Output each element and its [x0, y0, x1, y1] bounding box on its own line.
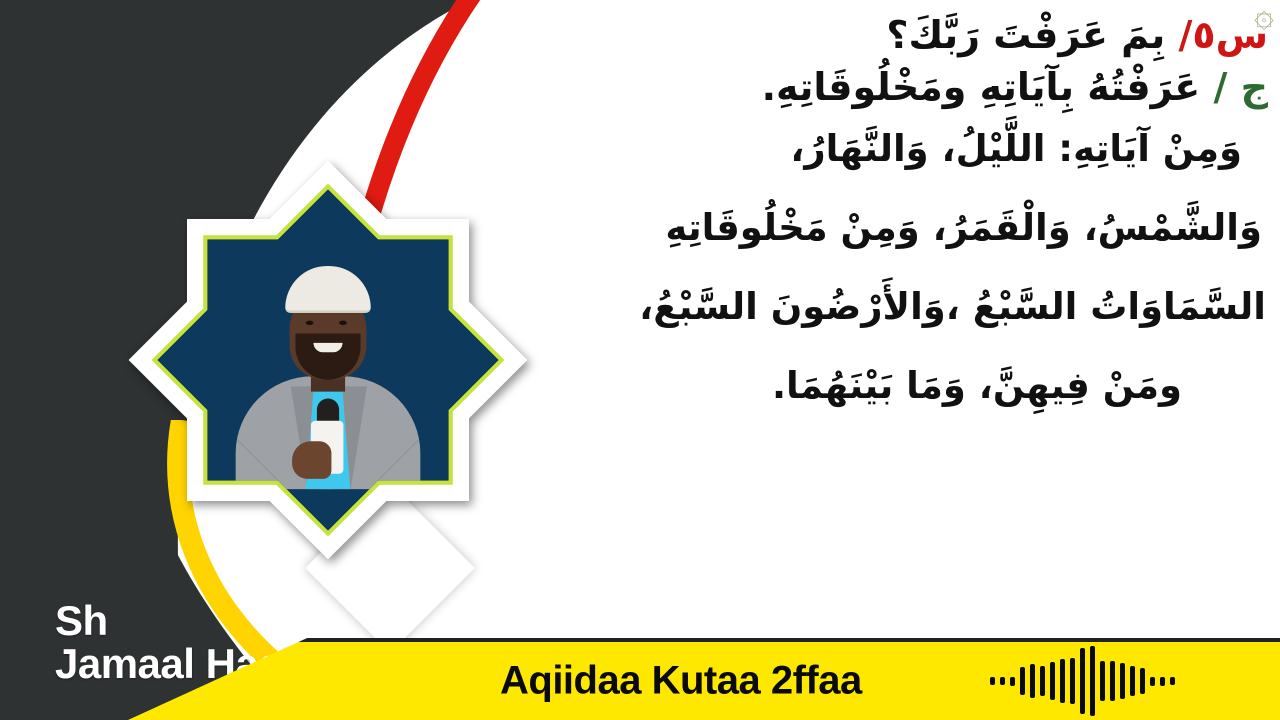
slide-canvas: Sh Jamaal Haajii ۞ س٥/ بِمَ عَرَفْتَ رَب… — [0, 0, 1280, 720]
body-line-4: ومَنْ فِيهِنَّ، وَمَا بَيْنَهُمَا. — [440, 367, 1182, 404]
answer-text: عَرَفْتُهُ بِآيَاتِهِ ومَخْلُوقَاتِهِ. — [762, 65, 1201, 109]
answer-marker: ج / — [1214, 65, 1269, 109]
answer-line: ج / عَرَفْتُهُ بِآيَاتِهِ ومَخْلُوقَاتِه… — [440, 68, 1268, 106]
question-text: بِمَ عَرَفْتَ رَبَّكَ؟ — [886, 13, 1165, 57]
presenter-honorific: Sh — [55, 600, 315, 643]
ornament-icon: ۞ — [1254, 0, 1274, 35]
question-line: س٥/ بِمَ عَرَفْتَ رَبَّكَ؟ — [440, 16, 1268, 54]
body-line-3: السَّمَاوَاتُ السَّبْعُ ،وَالأَرْضُونَ ا… — [440, 288, 1266, 325]
body-line-1: وَمِنْ آيَاتِهِ: اللَّيْلُ، وَالنَّهَارُ… — [440, 130, 1242, 167]
arabic-text-block: ۞ س٥/ بِمَ عَرَفْتَ رَبَّكَ؟ ج / عَرَفْت… — [430, 0, 1280, 560]
body-line-2: وَالشَّمْسُ، وَالْقَمَرُ، وَمِنْ مَخْلُو… — [440, 209, 1262, 246]
